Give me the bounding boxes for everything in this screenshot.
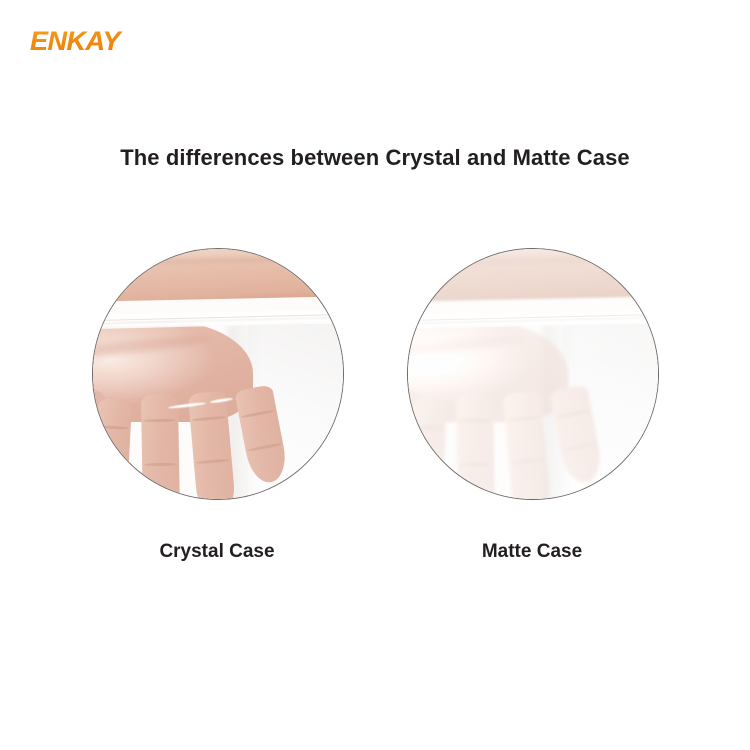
case-surface-overlay xyxy=(407,248,659,500)
comparison-item-crystal: Crystal Case xyxy=(92,248,344,563)
caption-matte: Matte Case xyxy=(407,541,657,563)
scene-matte xyxy=(407,248,659,500)
comparison-row: Crystal Case xyxy=(0,248,750,578)
comparison-item-matte: Matte Case xyxy=(407,248,659,563)
case-surface-overlay xyxy=(92,248,344,500)
caption-crystal: Crystal Case xyxy=(92,541,342,563)
product-photo-crystal xyxy=(92,248,344,500)
page-title: The differences between Crystal and Matt… xyxy=(0,145,750,171)
product-photo-matte xyxy=(407,248,659,500)
scene-crystal xyxy=(92,248,344,500)
brand-logo: ENKAY xyxy=(30,28,120,55)
